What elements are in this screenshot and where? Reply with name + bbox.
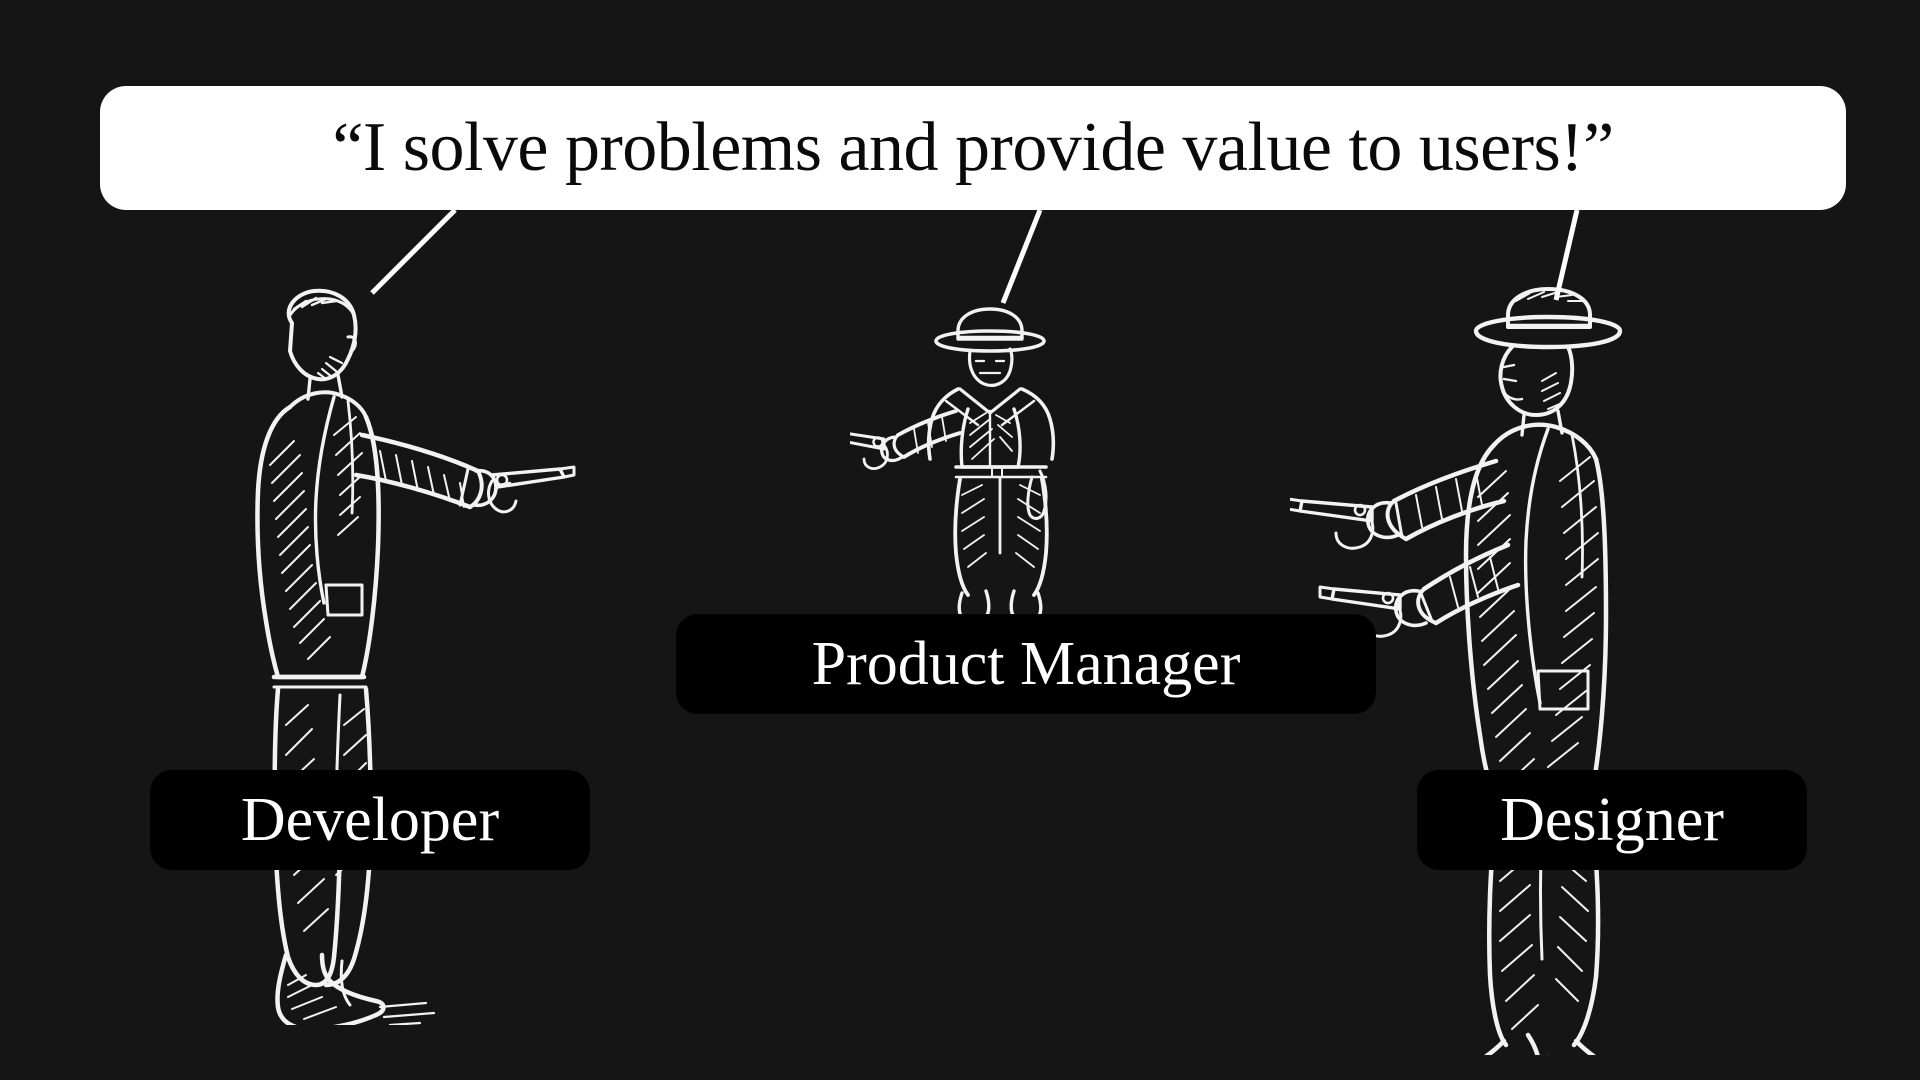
meme-canvas: “I solve problems and provide value to u… (0, 0, 1920, 1080)
role-label-developer: Developer (150, 770, 590, 870)
role-label-developer-text: Developer (241, 789, 499, 851)
tail-to-developer-line (372, 210, 455, 293)
role-label-product-manager-text: Product Manager (812, 633, 1241, 695)
role-label-designer: Designer (1417, 770, 1807, 870)
figure-product-manager (850, 305, 1130, 635)
role-label-product-manager: Product Manager (676, 614, 1376, 714)
role-label-designer-text: Designer (1500, 789, 1724, 851)
quote-text: “I solve problems and provide value to u… (332, 113, 1613, 183)
tail-to-product-manager-line (1003, 210, 1040, 303)
speech-bubble: “I solve problems and provide value to u… (100, 86, 1846, 210)
figure-developer (230, 285, 650, 1025)
